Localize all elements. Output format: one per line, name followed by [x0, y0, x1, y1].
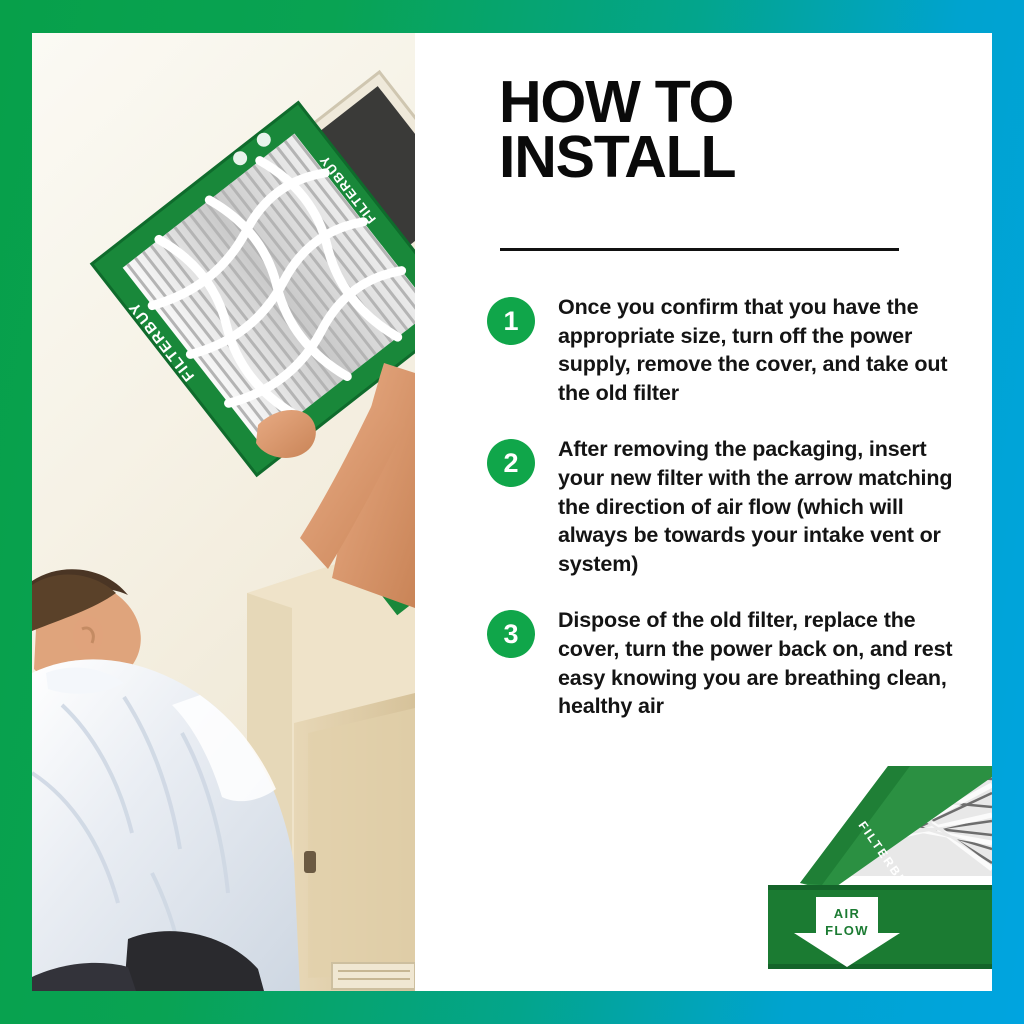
- step-badge-3: 3: [487, 610, 535, 658]
- install-photo-illustration: FILTERBUY FILTERBUY: [32, 33, 415, 991]
- step-text-3: Dispose of the old filter, replace the c…: [558, 606, 968, 720]
- step-text-2: After removing the packaging, insert you…: [558, 435, 968, 578]
- step-item-1: 1 Once you confirm that you have the app…: [487, 293, 987, 407]
- page-title-line-1: HOW TO: [499, 75, 969, 130]
- step-text-1: Once you confirm that you have the appro…: [558, 293, 968, 407]
- page-title: HOW TO INSTALL: [499, 75, 969, 185]
- title-divider: [500, 248, 899, 251]
- poster-card: FILTERBUY FILTERBUY: [32, 33, 992, 991]
- page-title-line-2: INSTALL: [499, 130, 969, 185]
- install-photo: FILTERBUY FILTERBUY: [32, 33, 415, 991]
- steps-list: 1 Once you confirm that you have the app…: [487, 293, 987, 749]
- step-item-3: 3 Dispose of the old filter, replace the…: [487, 606, 987, 720]
- step-item-2: 2 After removing the packaging, insert y…: [487, 435, 987, 578]
- step-badge-2: 2: [487, 439, 535, 487]
- step-badge-1: 1: [487, 297, 535, 345]
- instructions-panel: HOW TO INSTALL 1 Once you confirm that y…: [415, 33, 992, 991]
